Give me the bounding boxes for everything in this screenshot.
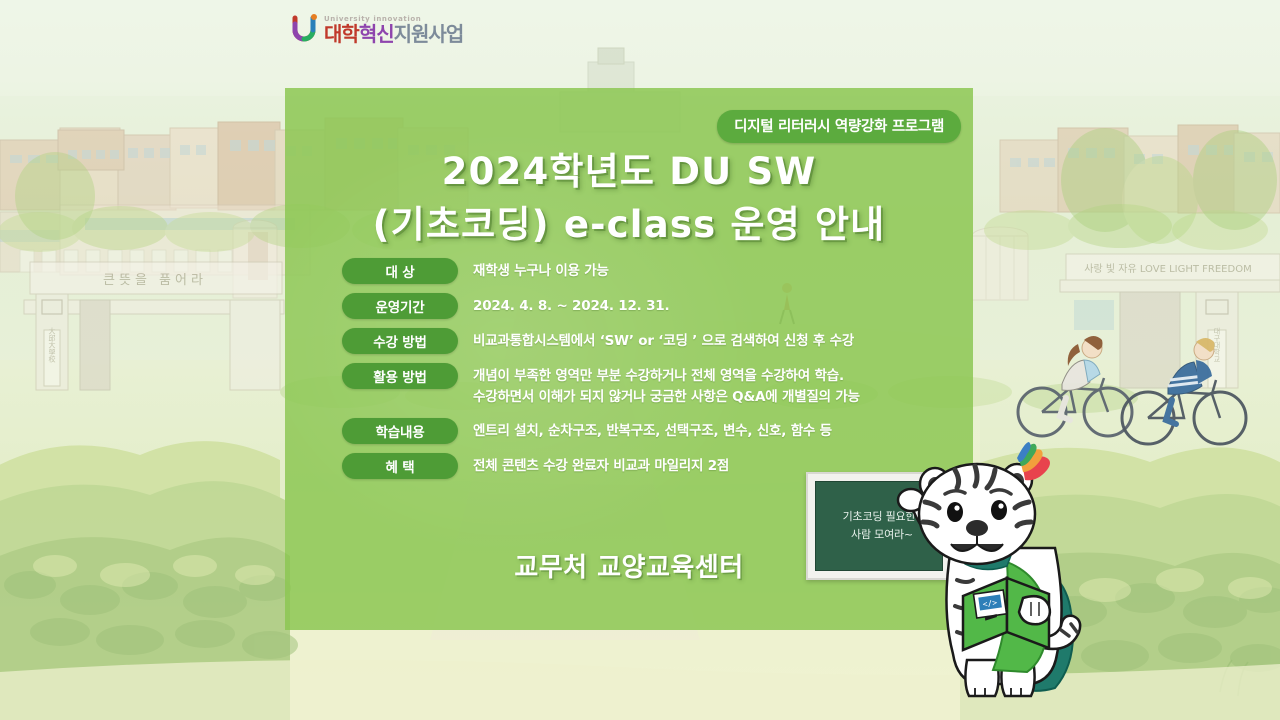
info-label-curriculum: 학습내용: [342, 418, 458, 444]
poster-canvas: 큰뜻을 품어라 大邱大學校 사랑 빛 자유 LOVE LIGHT FREEDOM…: [0, 0, 1280, 720]
logo-korean-part1: 대학: [324, 22, 359, 46]
info-value-target-line1: 재학생 누구나 이용 가능: [473, 263, 609, 279]
title-line-1: 2024학년도 DU SW: [285, 146, 973, 199]
info-label-period: 운영기간: [342, 293, 458, 319]
logo-text-block: University innovation 대학혁신지원사업: [324, 15, 463, 44]
info-value-target: 재학생 누구나 이용 가능: [473, 258, 609, 282]
info-row-curriculum: 학습내용 엔트리 설치, 순차구조, 반복구조, 선택구조, 변수, 신호, 함…: [342, 418, 955, 444]
info-value-curriculum: 엔트리 설치, 순차구조, 반복구조, 선택구조, 변수, 신호, 함수 등: [473, 418, 832, 442]
info-value-usage-method: 개념이 부족한 영역만 부분 수강하거나 전체 영역을 수강하여 학습. 수강하…: [473, 363, 860, 408]
info-value-curriculum-line1: 엔트리 설치, 순차구조, 반복구조, 선택구조, 변수, 신호, 함수 등: [473, 423, 832, 439]
left-gate-sign-text: 큰뜻을 품어라: [103, 273, 207, 288]
poster-title: 2024학년도 DU SW (기초코딩) e-class 운영 안내: [285, 146, 973, 251]
info-row-period: 운영기간 2024. 4. 8. ~ 2024. 12. 31.: [342, 293, 955, 319]
info-value-usage-method-line1: 개념이 부족한 영역만 부분 수강하거나 전체 영역을 수강하여 학습.: [473, 366, 860, 387]
info-row-usage-method: 활용 방법 개념이 부족한 영역만 부분 수강하거나 전체 영역을 수강하여 학…: [342, 363, 955, 408]
info-row-enrollment-method: 수강 방법 비교과통합시스템에서 ‘SW’ or ‘코딩 ’ 으로 검색하여 신…: [342, 328, 955, 354]
info-value-usage-method-line2: 수강하면서 이해가 되지 않거나 궁금한 사항은 Q&A에 개별질의 가능: [473, 387, 860, 408]
logo-korean-part2: 혁신: [359, 22, 394, 46]
right-gate-sign-text: 사랑 빛 자유 LOVE LIGHT FREEDOM: [1084, 263, 1251, 275]
info-value-enrollment-method: 비교과통합시스템에서 ‘SW’ or ‘코딩 ’ 으로 검색하여 신청 후 수강: [473, 328, 854, 352]
tiger-holding-paw: [1019, 596, 1050, 624]
info-value-enrollment-method-line1: 비교과통합시스템에서 ‘SW’ or ‘코딩 ’ 으로 검색하여 신청 후 수강: [473, 333, 854, 349]
logo-korean-text: 대학혁신지원사업: [324, 24, 463, 44]
info-value-period-line1: 2024. 4. 8. ~ 2024. 12. 31.: [473, 298, 669, 314]
title-line-2: (기초코딩) e-class 운영 안내: [285, 199, 973, 252]
tiger-mascot: </>: [895, 440, 1130, 720]
info-value-benefit-line1: 전체 콘텐츠 수강 완료자 비교과 마일리지 2점: [473, 458, 729, 474]
logo-mark-icon: [292, 14, 320, 44]
info-label-target: 대 상: [342, 258, 458, 284]
info-row-target: 대 상 재학생 누구나 이용 가능: [342, 258, 955, 284]
tiger-eye-left: [947, 502, 963, 522]
left-gate-plaque-text: 大邱大學校: [48, 327, 56, 364]
info-value-benefit: 전체 콘텐츠 수강 완료자 비교과 마일리지 2점: [473, 453, 729, 477]
program-badge: 디지털 리터러시 역량강화 프로그램: [717, 110, 961, 143]
info-label-usage-method: 활용 방법: [342, 363, 458, 389]
tiger-nose: [966, 520, 988, 536]
info-label-enrollment-method: 수강 방법: [342, 328, 458, 354]
tiger-eye-right: [991, 500, 1007, 520]
logo-korean-part3: 지원사업: [394, 22, 464, 46]
info-table: 대 상 재학생 누구나 이용 가능 운영기간 2024. 4. 8. ~ 202…: [342, 258, 955, 488]
university-innovation-logo: University innovation 대학혁신지원사업: [292, 14, 463, 44]
cyclist-front: [1018, 336, 1132, 436]
info-label-benefit: 혜 택: [342, 453, 458, 479]
info-value-period: 2024. 4. 8. ~ 2024. 12. 31.: [473, 293, 669, 317]
